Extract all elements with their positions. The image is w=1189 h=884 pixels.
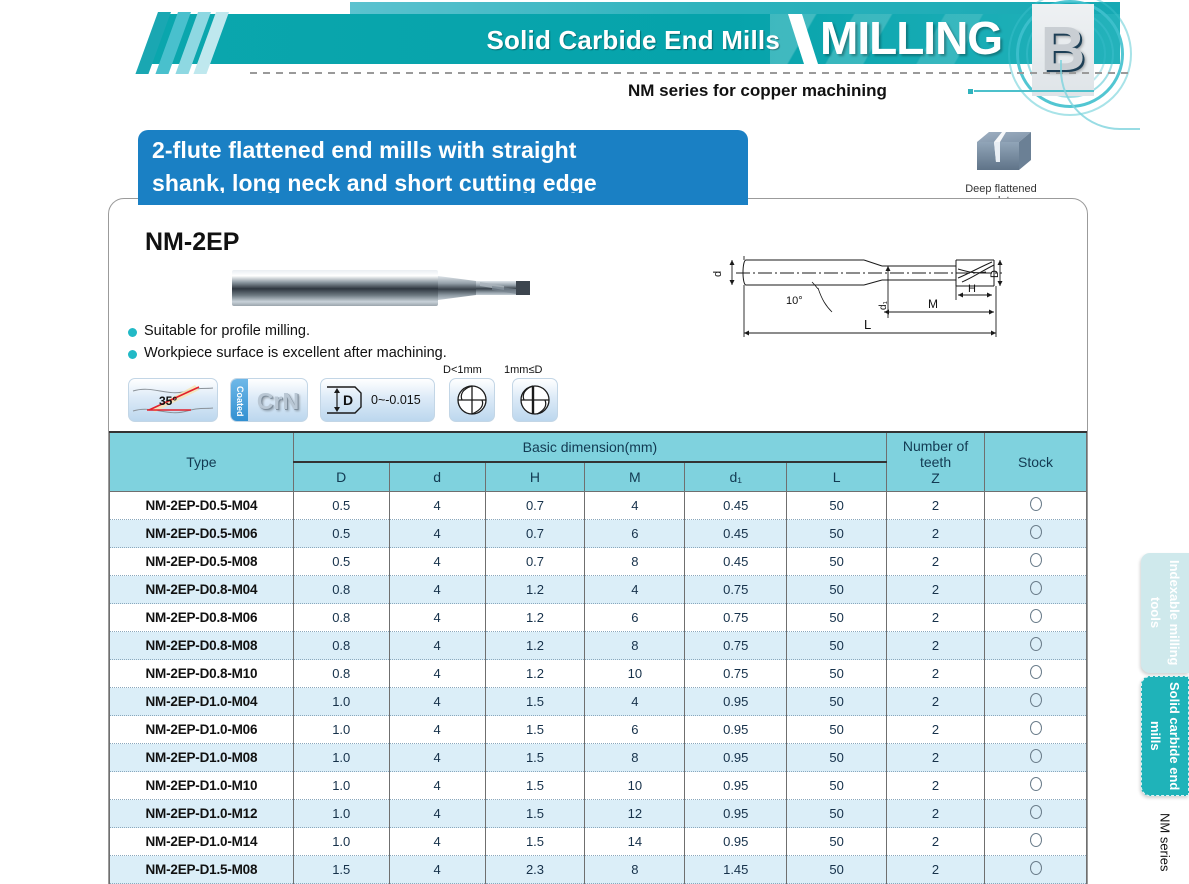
cell-stock <box>985 632 1087 660</box>
endface-large-caption: 1mm≤D <box>504 364 542 376</box>
bullet-dot-icon <box>128 328 137 337</box>
cell-L: 50 <box>787 716 887 744</box>
cell-L: 50 <box>787 660 887 688</box>
cell-D: 0.8 <box>293 660 389 688</box>
list-item: Workpiece surface is excellent after mac… <box>128 344 558 363</box>
cell-H: 1.2 <box>485 632 585 660</box>
dim-angle-label: 10° <box>786 295 803 307</box>
cell-D: 1.0 <box>293 772 389 800</box>
cell-D: 1.5 <box>293 856 389 884</box>
cell-teeth: 2 <box>887 856 985 884</box>
cell-d1: 0.75 <box>685 604 787 632</box>
col-header-stock: Stock <box>985 432 1087 492</box>
col-header-type: Type <box>110 432 294 492</box>
deep-flattened-slot-illustration: Deep flattened slot <box>958 128 1044 204</box>
cell-L: 50 <box>787 772 887 800</box>
cell-M: 4 <box>585 576 685 604</box>
cell-M: 4 <box>585 688 685 716</box>
cell-d: 4 <box>389 576 485 604</box>
sidebar-series-label: NM series <box>1143 806 1187 878</box>
cell-type: NM-2EP-D1.0-M14 <box>110 828 294 856</box>
sidebar-tab-label: Solid carbide end mills <box>1146 677 1184 795</box>
endface-large-icon <box>513 379 557 421</box>
cell-stock <box>985 576 1087 604</box>
cell-d: 4 <box>389 716 485 744</box>
stock-available-icon <box>1030 665 1042 679</box>
cell-stock <box>985 856 1087 884</box>
stock-available-icon <box>1030 777 1042 791</box>
table-body: NM-2EP-D0.5-M040.540.740.45502NM-2EP-D0.… <box>110 492 1087 884</box>
cell-D: 1.0 <box>293 828 389 856</box>
stock-available-icon <box>1030 637 1042 651</box>
cell-d: 4 <box>389 772 485 800</box>
specification-table: Type Basic dimension(mm) Number of teeth… <box>109 431 1087 884</box>
cell-d: 4 <box>389 548 485 576</box>
diameter-tolerance-badge: D 0~-0.015 <box>320 378 435 422</box>
cell-H: 0.7 <box>485 520 585 548</box>
teeth-line-2: teeth <box>889 454 982 470</box>
dim-d-label: d <box>712 271 724 277</box>
panel-title-overlap-mask <box>138 193 748 205</box>
cell-D: 0.8 <box>293 632 389 660</box>
table-row: NM-2EP-D1.0-M061.041.560.95502 <box>110 716 1087 744</box>
cell-type: NM-2EP-D0.5-M08 <box>110 548 294 576</box>
cell-d1: 0.95 <box>685 716 787 744</box>
cell-D: 0.5 <box>293 520 389 548</box>
cell-teeth: 2 <box>887 660 985 688</box>
cell-stock <box>985 716 1087 744</box>
sidebar-tab-indexable-milling-tools[interactable]: Indexable milling tools <box>1141 553 1189 673</box>
stock-available-icon <box>1030 497 1042 511</box>
endface-small-icon <box>450 379 494 421</box>
cell-d: 4 <box>389 520 485 548</box>
cell-L: 50 <box>787 688 887 716</box>
teeth-line-3: Z <box>889 470 982 486</box>
cell-L: 50 <box>787 856 887 884</box>
page-header: Solid Carbide End Mills MILLING B NM ser… <box>0 0 1189 112</box>
coating-badge: Coated CrN <box>230 378 308 422</box>
cell-type: NM-2EP-D0.8-M10 <box>110 660 294 688</box>
table-row: NM-2EP-D0.5-M080.540.780.45502 <box>110 548 1087 576</box>
cell-stock <box>985 688 1087 716</box>
cell-type: NM-2EP-D1.0-M10 <box>110 772 294 800</box>
cell-stock <box>985 772 1087 800</box>
cell-M: 6 <box>585 716 685 744</box>
dim-L-label: L <box>864 317 871 332</box>
cell-teeth: 2 <box>887 688 985 716</box>
table-row: NM-2EP-D1.5-M081.542.381.45502 <box>110 856 1087 884</box>
cell-type: NM-2EP-D0.8-M04 <box>110 576 294 604</box>
product-title-line-1: 2-flute flattened end mills with straigh… <box>152 134 748 167</box>
stock-available-icon <box>1030 861 1042 875</box>
cell-type: NM-2EP-D1.0-M06 <box>110 716 294 744</box>
cell-H: 0.7 <box>485 492 585 520</box>
end-mill-photo <box>228 262 538 314</box>
feature-text: Suitable for profile milling. <box>144 322 310 341</box>
cell-d: 4 <box>389 632 485 660</box>
coated-strip-label: Coated <box>231 379 248 422</box>
stock-available-icon <box>1030 721 1042 735</box>
col-header-D: D <box>293 462 389 491</box>
cell-type: NM-2EP-D1.5-M08 <box>110 856 294 884</box>
cell-M: 8 <box>585 744 685 772</box>
stock-available-icon <box>1030 693 1042 707</box>
cell-L: 50 <box>787 520 887 548</box>
cell-stock <box>985 520 1087 548</box>
cell-M: 8 <box>585 548 685 576</box>
cell-d1: 0.95 <box>685 828 787 856</box>
cell-M: 8 <box>585 632 685 660</box>
cell-d1: 0.75 <box>685 660 787 688</box>
cell-M: 10 <box>585 660 685 688</box>
cell-D: 1.0 <box>293 800 389 828</box>
endface-small-badge <box>449 378 495 422</box>
cell-d: 4 <box>389 660 485 688</box>
sidebar-tab-solid-carbide-end-mills[interactable]: Solid carbide end mills <box>1141 676 1189 796</box>
subtitle-connector-dot <box>968 89 973 94</box>
product-model-name: NM-2EP <box>145 228 239 257</box>
header-subtitle: NM series for copper machining <box>628 80 887 102</box>
cell-L: 50 <box>787 744 887 772</box>
cell-d1: 0.75 <box>685 632 787 660</box>
table-head: Type Basic dimension(mm) Number of teeth… <box>110 432 1087 492</box>
col-header-basic-dimension: Basic dimension(mm) <box>293 432 886 462</box>
cell-M: 6 <box>585 604 685 632</box>
cell-type: NM-2EP-D0.8-M06 <box>110 604 294 632</box>
svg-text:D: D <box>343 392 353 408</box>
cell-D: 0.8 <box>293 576 389 604</box>
cell-teeth: 2 <box>887 576 985 604</box>
col-header-H: H <box>485 462 585 491</box>
cell-H: 1.5 <box>485 688 585 716</box>
cell-L: 50 <box>787 548 887 576</box>
tolerance-value: 0~-0.015 <box>371 393 421 407</box>
cell-teeth: 2 <box>887 828 985 856</box>
table-row: NM-2EP-D0.8-M080.841.280.75502 <box>110 632 1087 660</box>
cell-d: 4 <box>389 828 485 856</box>
cell-M: 6 <box>585 520 685 548</box>
helix-angle-value: 35° <box>159 394 177 408</box>
cell-teeth: 2 <box>887 772 985 800</box>
cell-H: 1.5 <box>485 772 585 800</box>
cell-d1: 0.95 <box>685 744 787 772</box>
cell-stock <box>985 492 1087 520</box>
cell-type: NM-2EP-D0.8-M08 <box>110 632 294 660</box>
cell-d: 4 <box>389 744 485 772</box>
coating-name: CrN <box>249 382 307 420</box>
cell-teeth: 2 <box>887 744 985 772</box>
header-dotted-rule <box>250 72 1130 74</box>
table-row: NM-2EP-D0.5-M060.540.760.45502 <box>110 520 1087 548</box>
cell-H: 2.3 <box>485 856 585 884</box>
table-row: NM-2EP-D0.8-M040.841.240.75502 <box>110 576 1087 604</box>
helix-angle-badge: 35° <box>128 378 218 422</box>
helix-angle-icon: 35° <box>129 379 217 421</box>
cell-d1: 0.95 <box>685 772 787 800</box>
dim-H-label: H <box>968 283 976 295</box>
cell-H: 1.2 <box>485 660 585 688</box>
cell-type: NM-2EP-D1.0-M04 <box>110 688 294 716</box>
cell-d: 4 <box>389 604 485 632</box>
cell-stock <box>985 828 1087 856</box>
cell-stock <box>985 800 1087 828</box>
header-title: Solid Carbide End Mills <box>430 22 780 58</box>
dim-M-label: M <box>928 297 938 311</box>
tool-dimension-drawing: d D d₁ H M L 10° <box>706 238 1006 356</box>
cell-type: NM-2EP-D0.5-M06 <box>110 520 294 548</box>
cell-H: 1.2 <box>485 604 585 632</box>
cell-H: 1.5 <box>485 716 585 744</box>
cell-L: 50 <box>787 604 887 632</box>
teeth-line-1: Number of <box>889 438 982 454</box>
cell-H: 1.5 <box>485 828 585 856</box>
col-header-d1: d₁ <box>685 462 787 491</box>
cell-teeth: 2 <box>887 604 985 632</box>
cell-stock <box>985 660 1087 688</box>
cell-L: 50 <box>787 800 887 828</box>
stock-available-icon <box>1030 581 1042 595</box>
cell-teeth: 2 <box>887 548 985 576</box>
bullet-dot-icon <box>128 350 137 359</box>
cell-d1: 0.95 <box>685 688 787 716</box>
col-header-teeth: Number of teeth Z <box>887 432 985 492</box>
cell-type: NM-2EP-D0.5-M04 <box>110 492 294 520</box>
cell-d1: 1.45 <box>685 856 787 884</box>
endface-small-caption: D<1mm <box>443 364 482 376</box>
cell-D: 0.5 <box>293 548 389 576</box>
stock-available-icon <box>1030 525 1042 539</box>
cell-teeth: 2 <box>887 632 985 660</box>
feature-bullet-list: Suitable for profile milling. Workpiece … <box>128 322 558 366</box>
sidebar-tab-label: Indexable milling tools <box>1146 553 1184 673</box>
table-row: NM-2EP-D0.8-M060.841.260.75502 <box>110 604 1087 632</box>
cell-D: 1.0 <box>293 688 389 716</box>
cell-d: 4 <box>389 492 485 520</box>
table-row: NM-2EP-D1.0-M141.041.5140.95502 <box>110 828 1087 856</box>
cell-d: 4 <box>389 800 485 828</box>
cell-teeth: 2 <box>887 800 985 828</box>
slot-block-icon <box>969 128 1033 176</box>
table-row: NM-2EP-D1.0-M101.041.5100.95502 <box>110 772 1087 800</box>
tolerance-symbol-icon: D <box>321 379 369 421</box>
table-row: NM-2EP-D1.0-M081.041.580.95502 <box>110 744 1087 772</box>
product-title-box: 2-flute flattened end mills with straigh… <box>138 130 748 202</box>
cell-d1: 0.45 <box>685 492 787 520</box>
cell-type: NM-2EP-D1.0-M08 <box>110 744 294 772</box>
cell-M: 12 <box>585 800 685 828</box>
feature-text: Workpiece surface is excellent after mac… <box>144 344 447 363</box>
col-header-d: d <box>389 462 485 491</box>
cell-type: NM-2EP-D1.0-M12 <box>110 800 294 828</box>
cell-teeth: 2 <box>887 520 985 548</box>
cell-D: 1.0 <box>293 744 389 772</box>
col-header-L: L <box>787 462 887 491</box>
cell-H: 0.7 <box>485 548 585 576</box>
endface-large-badge <box>512 378 558 422</box>
cell-L: 50 <box>787 632 887 660</box>
cell-L: 50 <box>787 492 887 520</box>
cell-M: 10 <box>585 772 685 800</box>
dim-D-label: D <box>989 270 1001 278</box>
cell-d1: 0.95 <box>685 800 787 828</box>
cell-teeth: 2 <box>887 492 985 520</box>
cell-H: 1.2 <box>485 576 585 604</box>
dim-d1-label: d₁ <box>878 300 889 310</box>
stock-available-icon <box>1030 553 1042 567</box>
table-row: NM-2EP-D0.8-M100.841.2100.75502 <box>110 660 1087 688</box>
cell-d1: 0.75 <box>685 576 787 604</box>
col-header-M: M <box>585 462 685 491</box>
cell-d1: 0.45 <box>685 520 787 548</box>
cell-teeth: 2 <box>887 716 985 744</box>
cell-d: 4 <box>389 688 485 716</box>
stock-available-icon <box>1030 833 1042 847</box>
stock-available-icon <box>1030 805 1042 819</box>
table-row: NM-2EP-D0.5-M040.540.740.45502 <box>110 492 1087 520</box>
list-item: Suitable for profile milling. <box>128 322 558 341</box>
table-row: NM-2EP-D1.0-M121.041.5120.95502 <box>110 800 1087 828</box>
stock-available-icon <box>1030 749 1042 763</box>
cell-H: 1.5 <box>485 800 585 828</box>
cell-d1: 0.45 <box>685 548 787 576</box>
cell-stock <box>985 604 1087 632</box>
cell-L: 50 <box>787 576 887 604</box>
cell-L: 50 <box>787 828 887 856</box>
cell-d: 4 <box>389 856 485 884</box>
cell-M: 8 <box>585 856 685 884</box>
cell-H: 1.5 <box>485 744 585 772</box>
cell-stock <box>985 548 1087 576</box>
cell-D: 0.5 <box>293 492 389 520</box>
stock-available-icon <box>1030 609 1042 623</box>
cell-M: 4 <box>585 492 685 520</box>
cell-D: 1.0 <box>293 716 389 744</box>
cell-stock <box>985 744 1087 772</box>
table-header-row-1: Type Basic dimension(mm) Number of teeth… <box>110 432 1087 462</box>
cell-M: 14 <box>585 828 685 856</box>
cell-D: 0.8 <box>293 604 389 632</box>
table-row: NM-2EP-D1.0-M041.041.540.95502 <box>110 688 1087 716</box>
